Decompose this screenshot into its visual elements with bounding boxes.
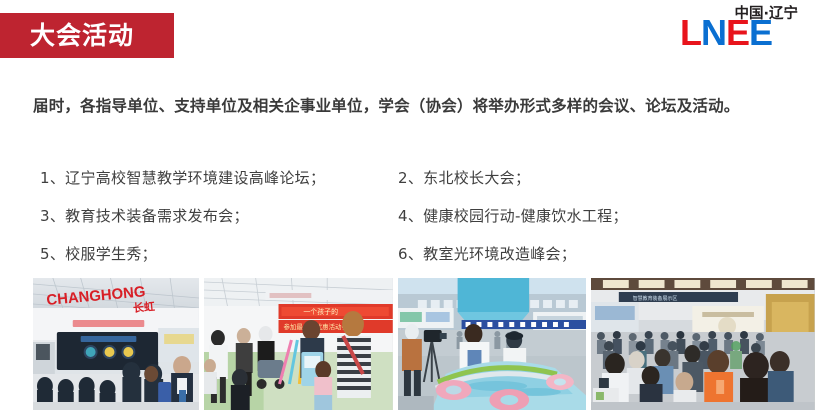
exhibition-hall-crowd-photo: 智慧教育装备展示区	[591, 278, 815, 410]
section-title-banner: 大会活动	[0, 13, 174, 58]
activity-list: 1、辽宁高校智慧教学环境建设高峰论坛； 2、东北校长大会； 3、教育技术装备需求…	[0, 158, 815, 272]
activity-item-5: 5、校服学生秀；	[0, 243, 378, 264]
page-header: 大会活动 中国·辽宁 LNEE	[0, 0, 815, 70]
changhong-booth-illustration: CHANGHONG 长虹	[33, 278, 199, 410]
lnee-logo: 中国·辽宁 LNEE	[680, 6, 798, 52]
activity-item-3: 3、教育技术装备需求发布会；	[0, 205, 378, 226]
photo-gallery: CHANGHONG 长虹	[33, 278, 815, 410]
activity-row: 1、辽宁高校智慧教学环境建设高峰论坛； 2、东北校长大会；	[0, 158, 815, 196]
page-title: 大会活动	[30, 23, 134, 48]
water-pool-exhibit-photo	[398, 278, 587, 410]
intro-paragraph: 届时，各指导单位、支持单位及相关企事业单位，学会（协会）将举办形式多样的会议、论…	[33, 92, 773, 121]
logo-letter-n: N	[701, 12, 726, 53]
logo-letter-l: L	[680, 12, 701, 53]
activity-item-2: 2、东北校长大会；	[378, 167, 815, 188]
logo-wordmark: LNEE	[680, 15, 772, 51]
activity-row: 5、校服学生秀； 6、教室光环境改造峰会；	[0, 234, 815, 272]
svg-text:长虹: 长虹	[132, 299, 155, 315]
exhibition-crowd-illustration: 一个孩子的 参加最低票优惠活动参通道	[204, 278, 393, 410]
exhibition-crowd-photo: 一个孩子的 参加最低票优惠活动参通道	[204, 278, 393, 410]
logo-letter-e1: E	[726, 12, 749, 53]
activity-row: 3、教育技术装备需求发布会； 4、健康校园行动-健康饮水工程；	[0, 196, 815, 234]
svg-text:一个孩子的: 一个孩子的	[303, 307, 338, 316]
changhong-booth-photo: CHANGHONG 长虹	[33, 278, 199, 410]
activity-item-6: 6、教室光环境改造峰会；	[378, 243, 815, 264]
svg-text:智慧教育装备展示区: 智慧教育装备展示区	[633, 295, 678, 302]
activity-item-1: 1、辽宁高校智慧教学环境建设高峰论坛；	[0, 167, 378, 188]
logo-letter-e2: E	[749, 12, 772, 53]
hall-crowd-illustration: 智慧教育装备展示区	[591, 278, 815, 410]
activity-item-4: 4、健康校园行动-健康饮水工程；	[378, 205, 815, 226]
water-pool-illustration	[398, 278, 587, 410]
